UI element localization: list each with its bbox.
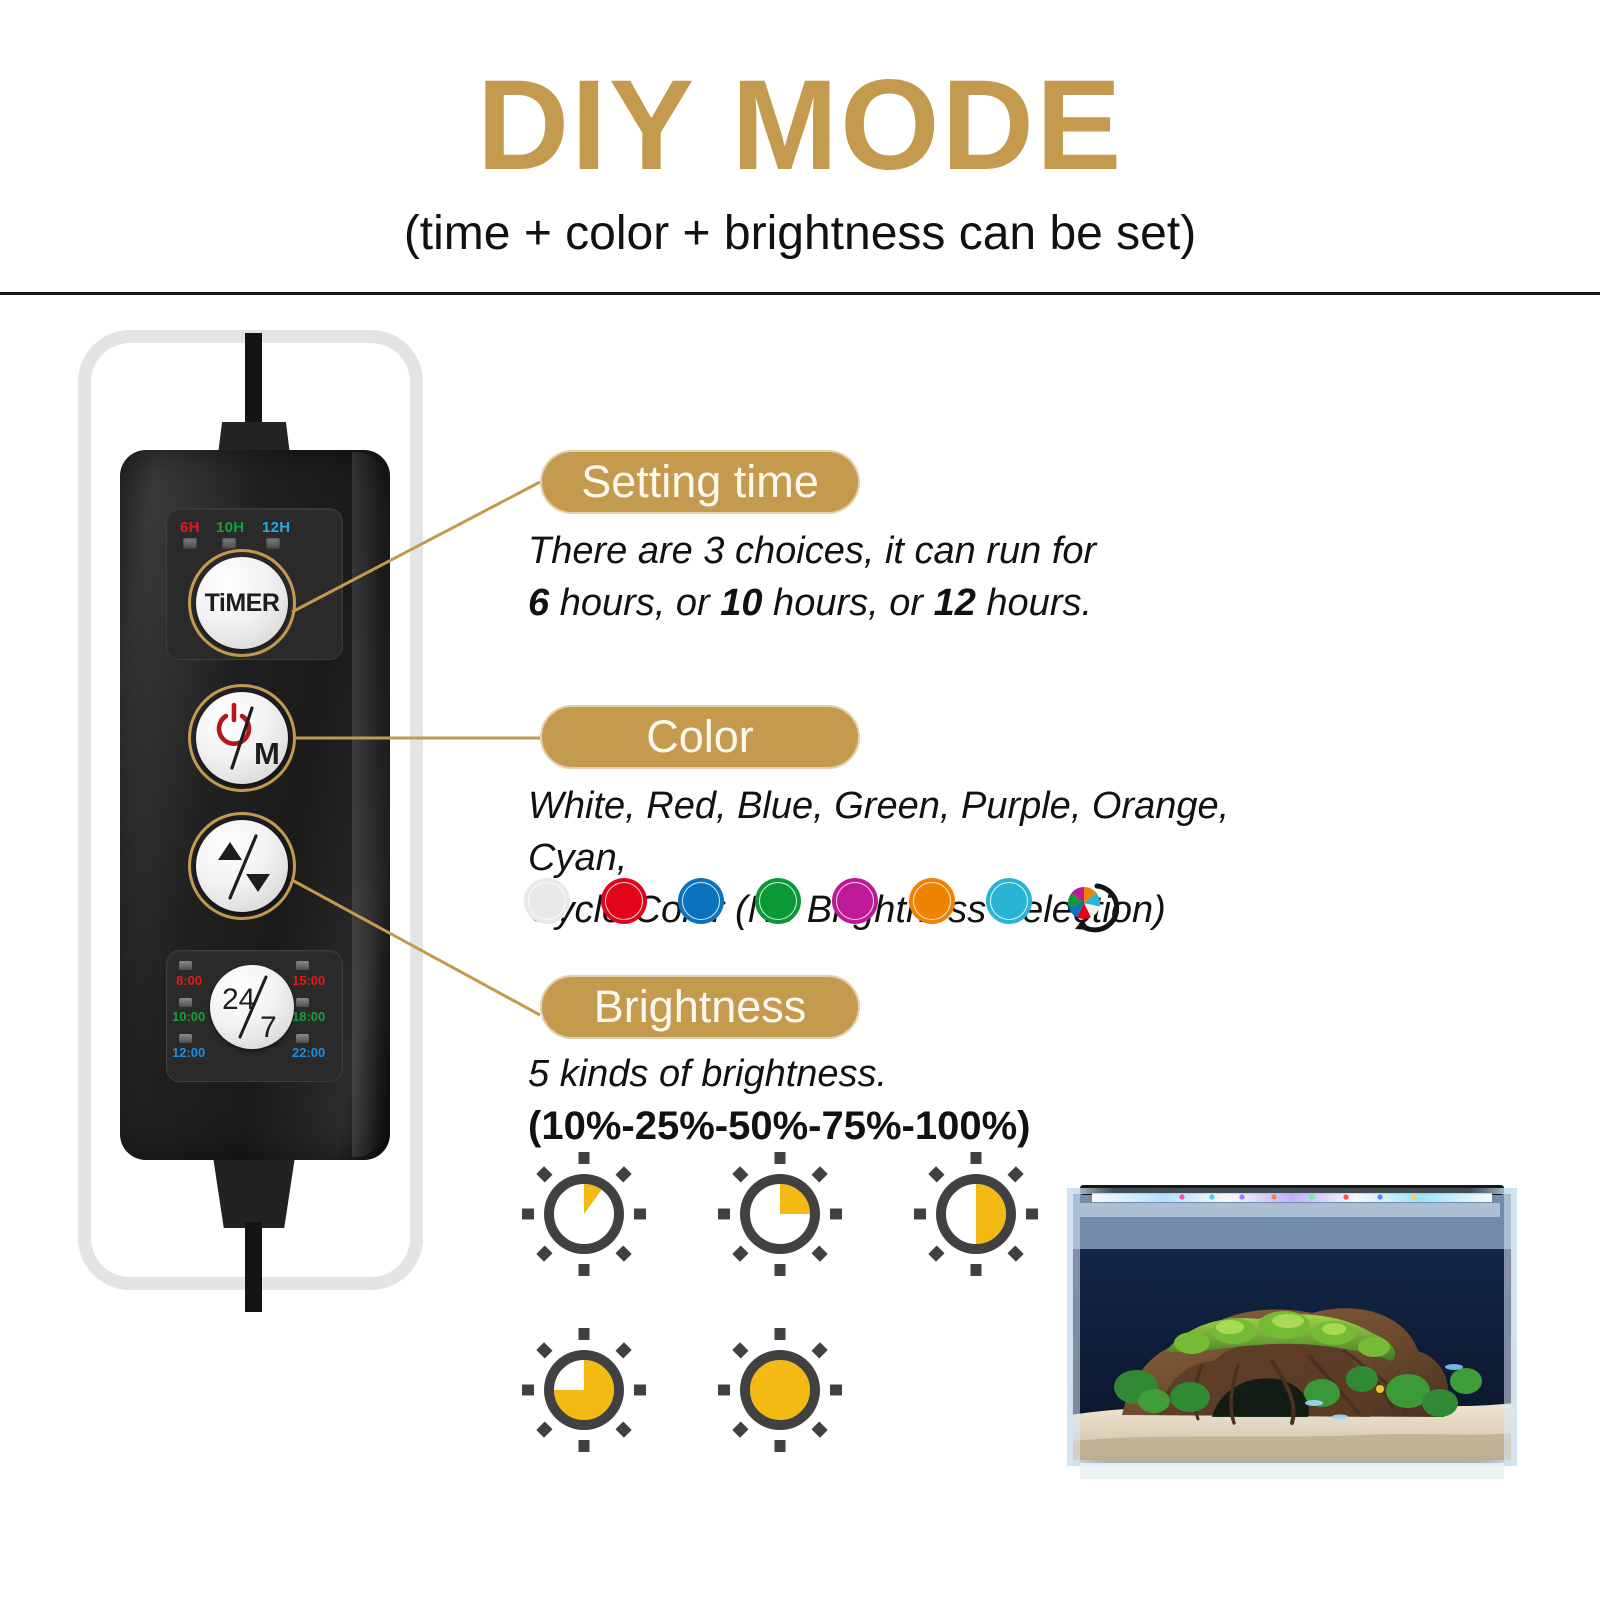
section-body-brightness: 5 kinds of brightness. (10%-25%-50%-75%-… <box>528 1048 1228 1153</box>
brightness-icon-75 <box>520 1326 648 1454</box>
brightness-icon-25 <box>716 1150 844 1278</box>
setting-time-mid2: hours, or <box>763 582 934 624</box>
brightness-level-icons <box>520 1150 1080 1480</box>
cycle-arrow-head <box>1075 919 1089 930</box>
brightness-updown-button[interactable] <box>196 820 288 912</box>
color-swatch-blue <box>678 878 724 924</box>
color-swatch-cyan <box>986 878 1032 924</box>
header-divider <box>0 292 1600 295</box>
schedule-time-left-1: 8:00 <box>176 973 202 988</box>
color-swatch-ring <box>913 882 951 920</box>
schedule-time-right-3: 22:00 <box>292 1045 325 1060</box>
timer-button[interactable]: TiMER <box>196 557 288 649</box>
power-mode-button[interactable]: M <box>196 692 288 784</box>
brightness-icon-100 <box>716 1326 844 1454</box>
power-cable-top <box>245 333 262 428</box>
plant-flower <box>1376 1385 1384 1393</box>
planted-aquarium-photo <box>1062 1165 1522 1485</box>
color-swatch-ring <box>605 882 643 920</box>
page-subtitle: (time + color + brightness can be set) <box>0 208 1600 260</box>
setting-time-line1: There are 3 choices, it can run for <box>528 530 1096 572</box>
sun-fill <box>750 1360 810 1420</box>
color-swatch-row <box>524 876 1164 936</box>
hour-led-indicator-10h <box>222 538 236 549</box>
section-pill-color: Color <box>540 705 860 769</box>
color-swatch-white <box>524 878 570 924</box>
hour-led-label-12h: 12H <box>262 519 290 536</box>
section-pill-setting-time: Setting time <box>540 450 860 514</box>
schedule-led-right-1 <box>296 961 309 970</box>
page-title: DIY MODE <box>0 62 1600 190</box>
chevron-up-icon <box>218 842 242 860</box>
label-7: 7 <box>260 1011 277 1044</box>
hour-led-indicator-12h <box>266 538 280 549</box>
brightness-button-glyph <box>196 820 288 912</box>
header: DIY MODE (time + color + brightness can … <box>0 0 1600 293</box>
hour-led-label-10h: 10H <box>216 519 244 536</box>
brightness-levels-text: (10%-25%-50%-75%-100%) <box>528 1104 1030 1148</box>
setting-time-bold-10: 10 <box>720 582 762 624</box>
mode-letter: M <box>254 736 280 771</box>
setting-time-bold-6: 6 <box>528 582 549 624</box>
power-icon <box>219 705 249 744</box>
color-swatch-purple <box>832 878 878 924</box>
setting-time-bold-12: 12 <box>934 582 976 624</box>
color-swatch-ring <box>759 882 797 920</box>
tank-reflection <box>1080 1463 1504 1479</box>
setting-time-mid1: hours, or <box>549 582 720 624</box>
color-swatch-green <box>755 878 801 924</box>
color-line1: White, Red, Blue, Green, Purple, Orange,… <box>528 785 1229 879</box>
section-pill-brightness: Brightness <box>540 975 860 1039</box>
hour-led-indicator-6h <box>183 538 197 549</box>
cycle-24-7-button[interactable]: 24 7 <box>210 965 294 1049</box>
schedule-time-right-1: 15:00 <box>292 973 325 988</box>
led-bar-emitters <box>1092 1193 1492 1202</box>
brightness-icon-10 <box>520 1150 648 1278</box>
brightness-line1: 5 kinds of brightness. <box>528 1053 887 1095</box>
chevron-down-icon <box>246 874 270 892</box>
brightness-icon-50 <box>912 1150 1040 1278</box>
schedule-time-left-3: 12:00 <box>172 1045 205 1060</box>
color-swatch-cycle <box>1057 872 1119 934</box>
power-mode-button-glyph: M <box>196 692 288 784</box>
color-swatch-ring <box>528 882 566 920</box>
power-cable-bottom <box>245 1222 262 1312</box>
section-body-setting-time: There are 3 choices, it can run for 6 ho… <box>528 525 1228 629</box>
schedule-time-left-2: 10:00 <box>172 1009 205 1024</box>
color-swatch-ring <box>836 882 874 920</box>
color-swatch-ring <box>990 882 1028 920</box>
color-swatch-red <box>601 878 647 924</box>
schedule-led-left-1 <box>179 961 192 970</box>
slash-divider <box>230 836 256 898</box>
schedule-led-left-2 <box>179 998 192 1007</box>
color-swatch-orange <box>909 878 955 924</box>
schedule-led-left-3 <box>179 1034 192 1043</box>
color-swatch-ring <box>682 882 720 920</box>
setting-time-tail: hours. <box>976 582 1092 624</box>
cycle-24-7-glyph: 24 7 <box>210 965 294 1049</box>
schedule-led-right-3 <box>296 1034 309 1043</box>
schedule-time-right-2: 18:00 <box>292 1009 325 1024</box>
schedule-led-right-2 <box>296 998 309 1007</box>
strain-relief-bottom <box>212 1150 296 1228</box>
hour-led-label-6h: 6H <box>180 519 200 536</box>
